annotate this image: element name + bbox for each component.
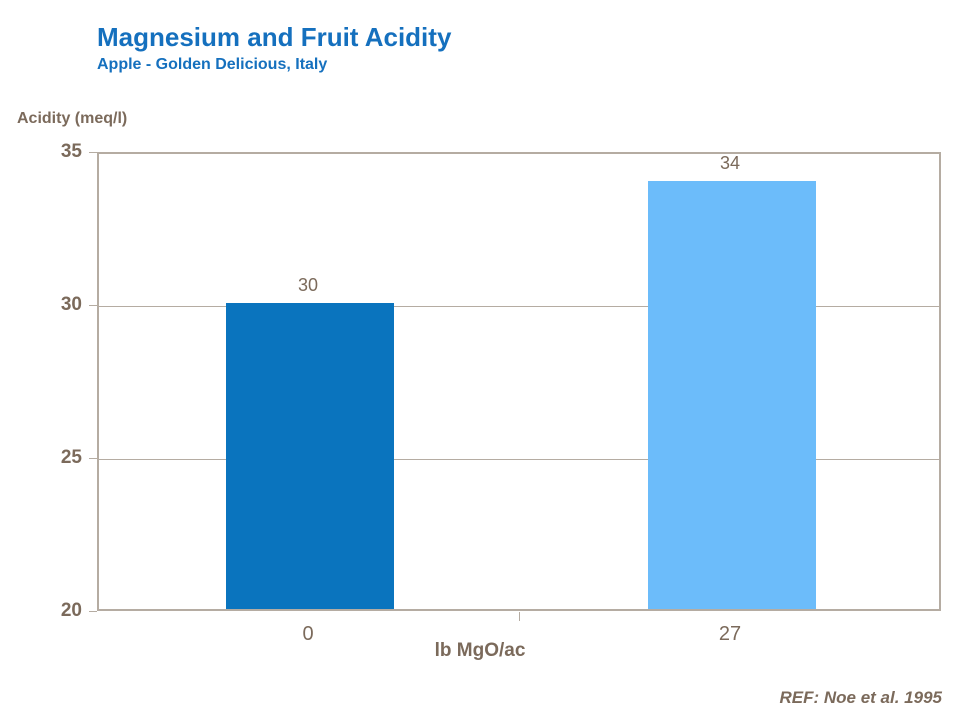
y-axis-tick-labels: 20253035 — [0, 0, 82, 720]
bar[interactable] — [226, 303, 394, 609]
y-axis-tick-label: 35 — [2, 141, 82, 163]
bar[interactable] — [648, 181, 816, 609]
reference-note: REF: Noe et al. 1995 — [779, 688, 942, 708]
y-axis-tick-mark — [89, 611, 97, 612]
y-axis-tick-label: 30 — [2, 294, 82, 316]
y-axis-tick-mark — [89, 305, 97, 306]
x-axis-tick-mark — [519, 612, 520, 621]
x-axis-tick-label: 0 — [248, 623, 368, 646]
x-axis-tick-label: 27 — [670, 623, 790, 646]
y-axis-tick-mark — [89, 152, 97, 153]
y-axis-tick-label: 25 — [2, 447, 82, 469]
bar-value-label: 30 — [248, 275, 368, 296]
x-axis-title: lb MgO/ac — [0, 640, 960, 662]
y-axis-tick-mark — [89, 458, 97, 459]
bar-chart: Magnesium and Fruit Acidity Apple - Gold… — [0, 0, 960, 720]
bar-value-label: 34 — [670, 153, 790, 174]
title-block: Magnesium and Fruit Acidity Apple - Gold… — [97, 22, 797, 75]
y-axis-tick-label: 20 — [2, 600, 82, 622]
plot-area — [97, 152, 941, 611]
chart-title: Magnesium and Fruit Acidity — [97, 22, 797, 52]
chart-subtitle: Apple - Golden Delicious, Italy — [97, 55, 797, 75]
